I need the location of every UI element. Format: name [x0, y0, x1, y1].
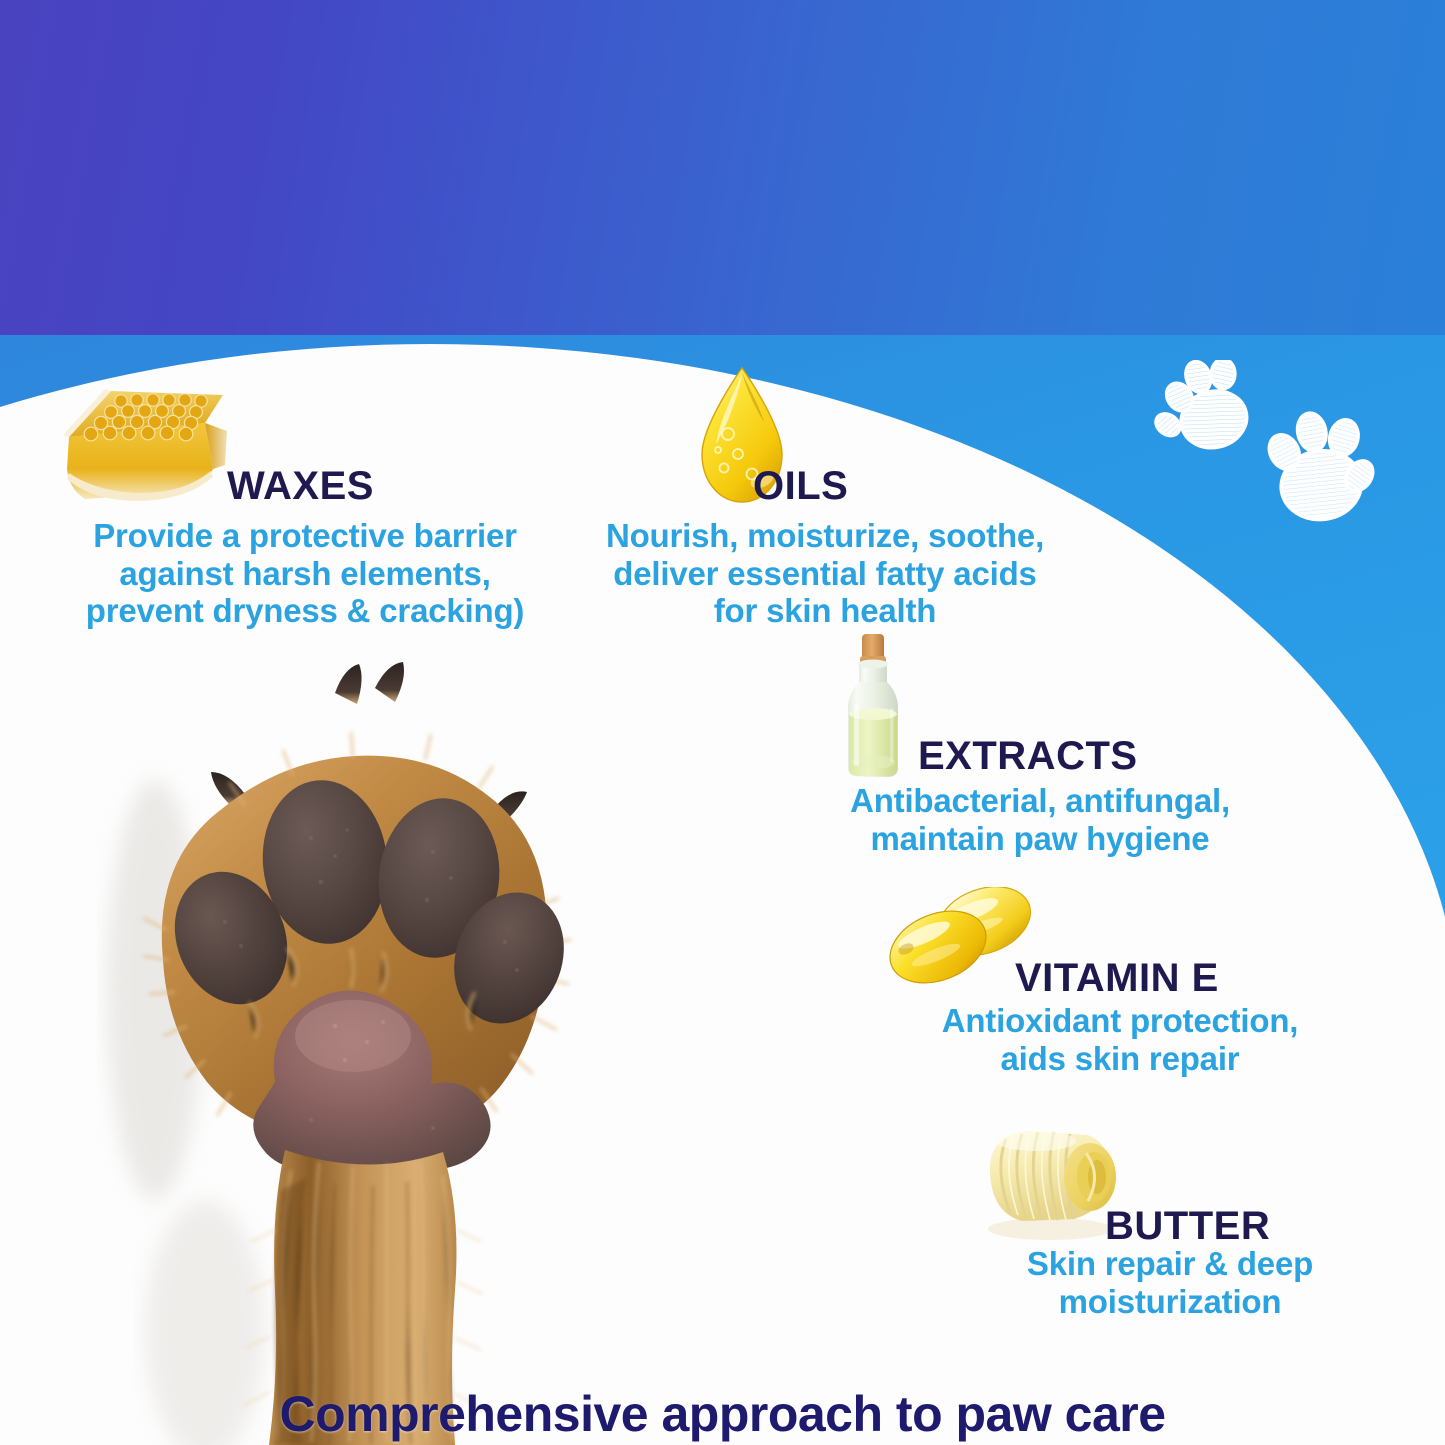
ingredient-title: BUTTER — [1105, 1205, 1270, 1247]
paw-prints-svg — [1135, 360, 1405, 555]
desc-line: maintain paw hygiene — [800, 820, 1280, 858]
paw-print-icon — [1139, 360, 1255, 462]
dog-paw-svg — [35, 630, 655, 1445]
tagline: Comprehensive approach to paw care — [0, 1385, 1445, 1443]
desc-line: Antibacterial, antifungal, — [800, 782, 1280, 820]
ingredient-extracts: EXTRACTS Antibacterial, antifungal, main… — [800, 635, 1280, 857]
dog-paw-photo — [35, 630, 655, 1445]
desc-line: for skin health — [575, 592, 1075, 630]
extract-bottle-icon — [835, 630, 927, 785]
ingredient-vitamin-e: VITAMIN E Antioxidant protection, aids s… — [880, 895, 1360, 1077]
header-banner — [0, 0, 1445, 335]
desc-line: Antioxidant protection, — [880, 1002, 1360, 1040]
desc-line: moisturization — [970, 1283, 1370, 1321]
ingredient-butter: BUTTER Skin repair & deep moisturization — [970, 1125, 1370, 1320]
ingredient-description: Antibacterial, antifungal, maintain paw … — [800, 782, 1280, 857]
desc-line: against harsh elements, — [55, 555, 555, 593]
ingredient-title: EXTRACTS — [918, 735, 1138, 777]
ingredient-description: Antioxidant protection, aids skin repair — [880, 1002, 1360, 1077]
ingredient-description: Nourish, moisturize, soothe, deliver ess… — [575, 517, 1075, 630]
desc-line: Provide a protective barrier — [55, 517, 555, 555]
paw-print-icon — [1260, 404, 1384, 526]
ingredient-title: VITAMIN E — [1015, 957, 1219, 999]
desc-line: prevent dryness & cracking) — [55, 592, 555, 630]
ingredient-description: Skin repair & deep moisturization — [970, 1245, 1370, 1320]
ingredient-waxes: WAXES Provide a protective barrier again… — [55, 365, 555, 630]
honeycomb-icon — [55, 365, 245, 505]
desc-line: aids skin repair — [880, 1040, 1360, 1078]
ingredient-title: OILS — [753, 465, 848, 507]
ingredient-title: WAXES — [227, 465, 374, 507]
paw-prints-group — [1135, 360, 1405, 555]
desc-line: Nourish, moisturize, soothe, — [575, 517, 1075, 555]
infographic-root: Five-Layered DEFENSE — [0, 0, 1445, 1445]
ingredient-description: Provide a protective barrier against har… — [55, 517, 555, 630]
desc-line: deliver essential fatty acids — [575, 555, 1075, 593]
ingredient-oils: OILS Nourish, moisturize, soothe, delive… — [575, 365, 1075, 630]
desc-line: Skin repair & deep — [970, 1245, 1370, 1283]
